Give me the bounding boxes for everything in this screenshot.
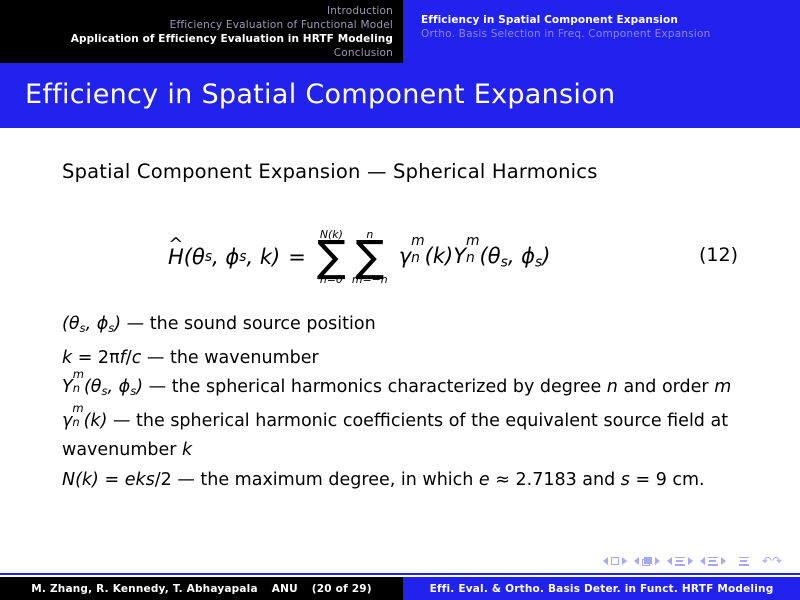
summation-outer-lower-limit: n=0: [317, 275, 346, 286]
def5-k-arg: (k): [75, 470, 99, 490]
nav-subsection-group[interactable]: [667, 557, 693, 566]
def2-pi: π: [109, 348, 120, 368]
definition-spherical-harmonics: Ymn(θs, ϕs) — the spherical harmonics ch…: [62, 373, 762, 407]
header-section-outline: Introduction Efficiency Evaluation of Fu…: [0, 0, 403, 63]
footer-separator-rule: [0, 573, 800, 575]
def2-description: — the wavenumber: [141, 348, 318, 368]
def1-mid: , ϕ: [86, 314, 109, 334]
hat-accent-icon: ^: [168, 234, 183, 255]
equation-gamma-superscript: m: [411, 235, 425, 249]
header-subsection-ortho-basis[interactable]: Ortho. Basis Selection in Freq. Componen…: [421, 27, 800, 41]
def5-N: N: [62, 470, 75, 490]
def5-description: — the maximum degree, in which: [172, 470, 479, 490]
header-section-introduction[interactable]: Introduction: [0, 4, 393, 18]
def4-arg: (k): [84, 411, 108, 431]
next-slide-icon[interactable]: [622, 557, 627, 565]
equation-summation-inner: n ∑ m=−n: [352, 230, 388, 286]
equation-lhs-args-open: (θ: [184, 245, 205, 269]
def3-mid: , ϕ: [108, 377, 131, 397]
def3-Y: Y: [62, 377, 73, 397]
equation-Y-arg-close: ): [542, 244, 550, 268]
header-section-application-hrtf[interactable]: Application of Efficiency Evaluation in …: [0, 32, 393, 46]
footer-page-number: (20 of 29): [312, 583, 372, 595]
footer-authors: M. Zhang, R. Kennedy, T. Abhayapala: [31, 583, 257, 595]
equation-lhs-args-mid: , ϕ: [212, 245, 239, 269]
equation-summation-outer: N(k) ∑ n=0: [317, 230, 346, 286]
document-overview-icon[interactable]: [739, 557, 749, 566]
def5-tail: = 9 cm.: [630, 470, 705, 490]
sigma-icon: ∑: [317, 240, 346, 275]
def3-degree-n: n: [607, 377, 618, 397]
equation-block: ^H(θs, ϕs, k) = N(k) ∑ n=0 n ∑ m=−n γmn(…: [0, 216, 800, 298]
slide-body: Spatial Component Expansion — Spherical …: [0, 128, 800, 548]
def4-k: k: [182, 440, 192, 460]
nav-section-group[interactable]: [700, 557, 726, 566]
current-section-icon[interactable]: [708, 557, 718, 566]
summation-inner-lower-limit: m=−n: [352, 275, 388, 286]
def5-s: s: [621, 470, 630, 490]
def3-sub: n: [73, 383, 84, 395]
slide-title: Efficiency in Spatial Component Expansio…: [25, 79, 615, 110]
def5-e: e: [479, 470, 490, 490]
nav-slide-group[interactable]: [603, 557, 627, 565]
def1-description: — the sound source position: [121, 314, 376, 334]
previous-section-icon[interactable]: [700, 557, 705, 565]
header-navigation-bar: Introduction Efficiency Evaluation of Fu…: [0, 0, 800, 63]
def2-eq: = 2: [72, 348, 109, 368]
equation-gamma-subscript: n: [411, 252, 425, 266]
definition-wavenumber: k = 2πf/c — the wavenumber: [62, 344, 762, 374]
current-subsection-icon[interactable]: [675, 557, 685, 566]
body-heading: Spatial Component Expansion — Spherical …: [62, 160, 598, 183]
equation-gamma-symbol: γ: [399, 244, 411, 268]
def5-two: 2: [161, 470, 172, 490]
def4-sub: n: [72, 417, 83, 429]
def4-sup: m: [72, 403, 83, 415]
footer-institution: ANU: [272, 583, 298, 595]
header-section-efficiency-evaluation[interactable]: Efficiency Evaluation of Functional Mode…: [0, 18, 393, 32]
presentation-slide: Introduction Efficiency Evaluation of Fu…: [0, 0, 800, 600]
equation-gamma-argument: (k): [425, 244, 454, 268]
def5-approx-value: ≈ 2.7183 and: [490, 470, 621, 490]
header-section-conclusion[interactable]: Conclusion: [0, 46, 393, 60]
nav-frame-group[interactable]: [634, 557, 660, 566]
def3-description-2: and order: [623, 377, 714, 397]
equation-Y-arg-open: (θ: [480, 244, 501, 268]
equation-Y-arg-sub-theta: s: [501, 255, 508, 271]
footer-bar: M. Zhang, R. Kennedy, T. Abhayapala ANU …: [0, 577, 800, 600]
definition-list: (θs, ϕs) — the sound source position k =…: [62, 310, 762, 495]
def3-order-m: m: [714, 377, 731, 397]
beamer-navigation-symbols[interactable]: ↶↷: [603, 552, 782, 570]
equation-Y-subscript: n: [466, 252, 480, 266]
next-subsection-icon[interactable]: [688, 557, 693, 565]
def3-open: (θ: [84, 377, 102, 397]
header-subsection-outline: Efficiency in Spatial Component Expansio…: [403, 0, 800, 63]
def1-open: (θ: [62, 314, 80, 334]
next-frame-icon[interactable]: [655, 557, 660, 565]
definition-harmonic-coefficients: γmn(k) — the spherical harmonic coeffici…: [62, 407, 762, 466]
equation-Y-symbol: Y: [453, 244, 466, 268]
previous-subsection-icon[interactable]: [667, 557, 672, 565]
def4-description: — the spherical harmonic coefficients of…: [62, 411, 728, 461]
equation-Y-arg-mid: , ϕ: [508, 244, 535, 268]
previous-slide-icon[interactable]: [603, 557, 608, 565]
equation-lhs-args-end: , k): [247, 245, 281, 269]
header-subsection-spatial-component[interactable]: Efficiency in Spatial Component Expansio…: [421, 13, 800, 27]
definition-maximum-degree: N(k) = eks/2 — the maximum degree, in wh…: [62, 466, 762, 496]
next-section-icon[interactable]: [721, 557, 726, 565]
definition-source-position: (θs, ϕs) — the sound source position: [62, 310, 762, 344]
def2-c: c: [132, 348, 142, 368]
current-slide-icon[interactable]: [611, 557, 619, 565]
previous-frame-icon[interactable]: [634, 557, 639, 565]
equation-number: (12): [699, 244, 738, 266]
def5-eq: =: [99, 470, 125, 490]
equation-lhs-sub-theta: s: [205, 249, 212, 265]
def3-sup: m: [73, 369, 84, 381]
equation-Y-superscript: m: [466, 235, 480, 249]
footer-short-title: Effi. Eval. & Ortho. Basis Deter. in Fun…: [430, 583, 774, 595]
slide-title-bar: Efficiency in Spatial Component Expansio…: [0, 63, 800, 128]
equation-expression: ^H(θs, ϕs, k) = N(k) ∑ n=0 n ∑ m=−n γmn(…: [168, 216, 550, 298]
def4-gamma: γ: [62, 411, 72, 431]
equation-equals-sign: =: [288, 245, 306, 269]
sigma-icon: ∑: [352, 240, 388, 275]
def5-eks: eks: [125, 470, 155, 490]
back-navigation-icon[interactable]: ↶↷: [762, 555, 782, 567]
current-frame-icon[interactable]: [642, 557, 652, 566]
footer-right: Effi. Eval. & Ortho. Basis Deter. in Fun…: [403, 577, 800, 600]
def3-description: — the spherical harmonics characterized …: [143, 377, 607, 397]
footer-left: M. Zhang, R. Kennedy, T. Abhayapala ANU …: [0, 577, 403, 600]
equation-lhs-sub-phi: s: [239, 249, 246, 265]
def2-k: k: [62, 348, 72, 368]
